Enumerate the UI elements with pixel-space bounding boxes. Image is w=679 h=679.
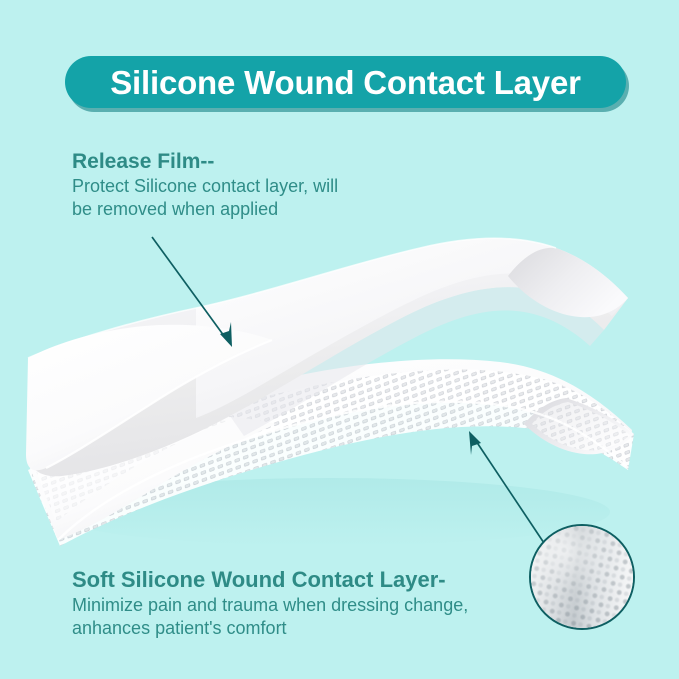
callout-release-film-line-1: Protect Silicone contact layer, will	[72, 176, 338, 198]
callout-silicone-layer-line-2: anhances patient's comfort	[72, 618, 468, 640]
callout-release-film-line-2: be removed when applied	[72, 199, 338, 221]
silicone-texture-magnifier	[529, 524, 635, 630]
callout-silicone-layer: Soft Silicone Wound Contact Layer- Minim…	[72, 568, 468, 640]
callout-release-film-heading: Release Film--	[72, 150, 338, 174]
callout-silicone-layer-line-1: Minimize pain and trauma when dressing c…	[72, 595, 468, 617]
callout-silicone-layer-heading: Soft Silicone Wound Contact Layer-	[72, 568, 468, 593]
product-infographic: Silicone Wound Contact Layer Release Fil…	[0, 0, 679, 679]
callout-release-film: Release Film-- Protect Silicone contact …	[72, 150, 338, 221]
title-banner: Silicone Wound Contact Layer	[65, 56, 626, 108]
silicone-texture-closeup	[529, 524, 635, 630]
page-title: Silicone Wound Contact Layer	[110, 66, 581, 99]
